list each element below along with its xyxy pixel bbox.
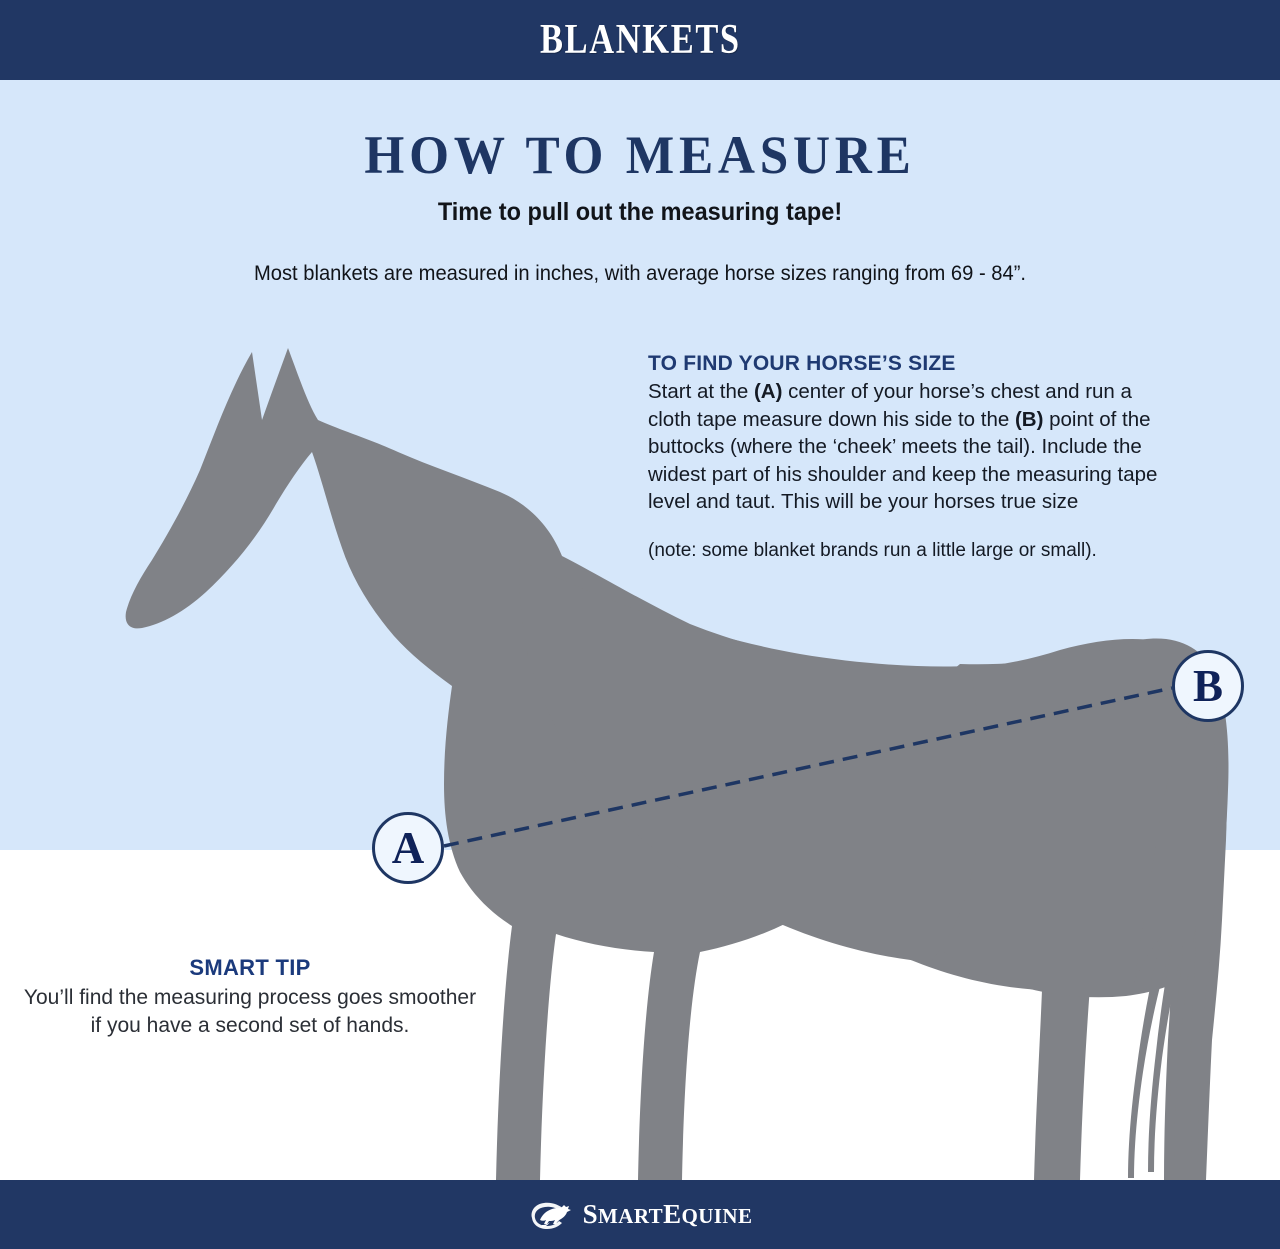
instructions-block: TO FIND YOUR HORSE’S SIZE Start at the (… <box>648 352 1178 564</box>
measure-point-b-marker: B <box>1172 650 1244 722</box>
intro-text: Most blankets are measured in inches, wi… <box>26 262 1255 286</box>
page-header: BLANKETS <box>0 0 1280 80</box>
smart-tip-heading: SMART TIP <box>20 955 480 981</box>
smart-tip-body: You’ll find the measuring process goes s… <box>20 984 480 1040</box>
brand-equine-rest: QUINE <box>682 1204 753 1228</box>
brand-equine-cap: E <box>663 1199 681 1229</box>
header-title: BLANKETS <box>540 16 741 64</box>
smart-tip-block: SMART TIP You’ll find the measuring proc… <box>20 955 480 1040</box>
measure-point-b-label: B <box>1193 664 1223 709</box>
measure-point-a-marker: A <box>372 812 444 884</box>
instructions-note: (note: some blanket brands run a little … <box>648 538 1178 564</box>
page-subtitle: Time to pull out the measuring tape! <box>38 198 1241 227</box>
brand-smart-rest: MART <box>598 1204 663 1228</box>
infographic-page: BLANKETS HOW TO MEASURE Time to pull out… <box>0 0 1280 1249</box>
brand-smart-cap: S <box>583 1199 598 1229</box>
measure-point-a-label: A <box>392 826 425 871</box>
page-footer: SMARTEQUINE <box>0 1180 1280 1249</box>
brand-wordmark: SMARTEQUINE <box>583 1199 753 1230</box>
instructions-heading: TO FIND YOUR HORSE’S SIZE <box>648 352 1178 376</box>
page-title: HOW TO MEASURE <box>32 124 1248 186</box>
instructions-body: Start at the (A) center of your horse’s … <box>648 378 1178 516</box>
running-horse-logo-icon <box>528 1198 574 1232</box>
